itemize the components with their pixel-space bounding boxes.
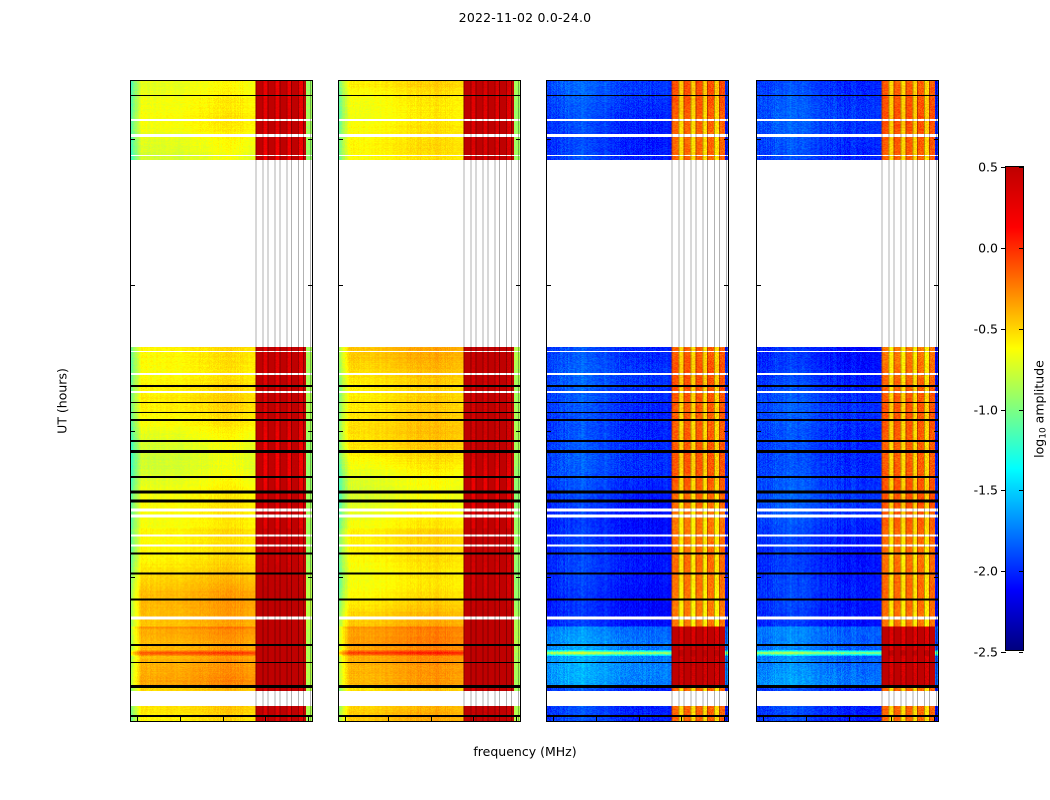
x-tick-inner <box>345 717 346 721</box>
x-tick-inner <box>681 717 682 721</box>
colorbar-label-suffix: amplitude <box>1032 360 1047 427</box>
colorbar[interactable]: 0.50.0-0.5-1.0-1.5-2.0-2.5 <box>1005 166 1024 651</box>
x-tick-inner <box>849 717 850 721</box>
x-tick-inner <box>431 717 432 721</box>
x-tick-inner <box>223 717 224 721</box>
x-tick <box>639 721 640 722</box>
x-tick <box>724 721 725 722</box>
y-tick-inner <box>547 139 551 140</box>
colorbar-tick-label: 0.0 <box>978 240 998 255</box>
colorbar-tick-inner <box>1019 652 1023 653</box>
figure-suptitle: 2022-11-02 0.0-24.0 <box>0 10 1050 25</box>
colorbar-tick-inner <box>1019 167 1023 168</box>
x-tick-inner <box>806 717 807 721</box>
colorbar-tick <box>1001 652 1006 653</box>
colorbar-tick <box>1001 167 1006 168</box>
x-tick <box>891 721 892 722</box>
y-tick-inner-right <box>308 285 312 286</box>
y-tick-inner <box>547 431 551 432</box>
y-tick-inner-right <box>724 285 728 286</box>
colorbar-tick <box>1001 329 1006 330</box>
y-tick-inner <box>339 139 343 140</box>
x-tick <box>265 721 266 722</box>
y-tick-inner-right <box>516 431 520 432</box>
x-tick-inner <box>639 717 640 721</box>
x-tick-inner <box>763 717 764 721</box>
y-tick-inner <box>339 285 343 286</box>
x-tick-inner <box>137 717 138 721</box>
y-tick-inner-right <box>308 431 312 432</box>
y-tick-inner-right <box>724 577 728 578</box>
y-tick-inner <box>131 139 135 140</box>
y-tick-inner <box>547 577 551 578</box>
y-tick-inner-right <box>724 431 728 432</box>
y-tick-inner-right <box>516 139 520 140</box>
y-tick-inner-right <box>934 285 938 286</box>
x-tick <box>681 721 682 722</box>
colorbar-tick-inner <box>1019 248 1023 249</box>
panel-yy[interactable]: YY, V6=EA19 05101520320335350365380 <box>338 80 521 722</box>
y-tick-inner <box>131 431 135 432</box>
x-tick <box>388 721 389 722</box>
colorbar-tick-label: -2.5 <box>974 645 998 660</box>
x-tick-inner <box>724 717 725 721</box>
y-tick-inner <box>339 431 343 432</box>
y-tick-inner-right <box>934 431 938 432</box>
y-tick-inner <box>757 577 761 578</box>
x-tick-inner <box>596 717 597 721</box>
colorbar-tick-inner <box>1019 490 1023 491</box>
waterfall-xx <box>131 81 312 721</box>
colorbar-tick-label: -1.0 <box>974 402 998 417</box>
waterfall-xy <box>547 81 728 721</box>
x-tick-inner <box>388 717 389 721</box>
x-tick-inner <box>473 717 474 721</box>
y-tick-inner-right <box>516 577 520 578</box>
x-tick-inner <box>553 717 554 721</box>
colorbar-tick <box>1001 571 1006 572</box>
waterfall-yy <box>339 81 520 721</box>
colorbar-tick-inner <box>1019 410 1023 411</box>
x-tick-inner <box>308 717 309 721</box>
x-tick <box>473 721 474 722</box>
colorbar-label: log10 amplitude <box>1032 360 1049 458</box>
colorbar-tick-label: 0.5 <box>978 160 998 175</box>
y-tick-inner <box>547 285 551 286</box>
x-tick <box>934 721 935 722</box>
y-tick-inner-right <box>308 577 312 578</box>
colorbar-tick <box>1001 410 1006 411</box>
x-tick <box>431 721 432 722</box>
waterfall-yx <box>757 81 938 721</box>
colorbar-tick <box>1001 248 1006 249</box>
x-tick-inner <box>180 717 181 721</box>
colorbar-tick <box>1001 490 1006 491</box>
y-axis-label: UT (hours) <box>55 368 70 434</box>
colorbar-tick-label: -1.5 <box>974 483 998 498</box>
y-tick-inner-right <box>724 139 728 140</box>
x-tick-inner <box>891 717 892 721</box>
colorbar-tick-label: -0.5 <box>974 321 998 336</box>
y-tick-inner-right <box>934 577 938 578</box>
colorbar-tick-inner <box>1019 571 1023 572</box>
x-axis-label: frequency (MHz) <box>0 744 1050 759</box>
y-tick-inner <box>757 139 761 140</box>
y-tick-inner <box>757 285 761 286</box>
x-tick <box>763 721 764 722</box>
panel-yx[interactable]: YX, V6=EA19 05101520320335350365380 <box>756 80 939 722</box>
y-tick-inner <box>757 431 761 432</box>
x-tick <box>596 721 597 722</box>
y-tick-inner <box>339 577 343 578</box>
colorbar-tick-inner <box>1019 329 1023 330</box>
x-tick <box>223 721 224 722</box>
y-tick-inner <box>131 577 135 578</box>
y-tick-inner-right <box>308 139 312 140</box>
x-tick <box>553 721 554 722</box>
x-tick <box>180 721 181 722</box>
y-tick-inner-right <box>516 285 520 286</box>
colorbar-tick-label: -2.0 <box>974 564 998 579</box>
y-tick-inner-right <box>934 139 938 140</box>
x-tick <box>849 721 850 722</box>
colorbar-label-text: log <box>1032 439 1047 458</box>
x-tick <box>516 721 517 722</box>
x-tick-inner <box>265 717 266 721</box>
colorbar-label-sub: 10 <box>1039 427 1049 438</box>
x-tick-inner <box>516 717 517 721</box>
x-tick <box>806 721 807 722</box>
x-tick <box>137 721 138 722</box>
figure-canvas: 2022-11-02 0.0-24.0 XX, V6=EA19 05101520… <box>0 0 1050 800</box>
x-tick <box>308 721 309 722</box>
x-tick-inner <box>934 717 935 721</box>
panel-xy[interactable]: XY, V6=EA19 05101520320335350365380 <box>546 80 729 722</box>
y-tick-inner <box>131 285 135 286</box>
x-tick <box>345 721 346 722</box>
panel-xx[interactable]: XX, V6=EA19 05101520320335350365380 <box>130 80 313 722</box>
